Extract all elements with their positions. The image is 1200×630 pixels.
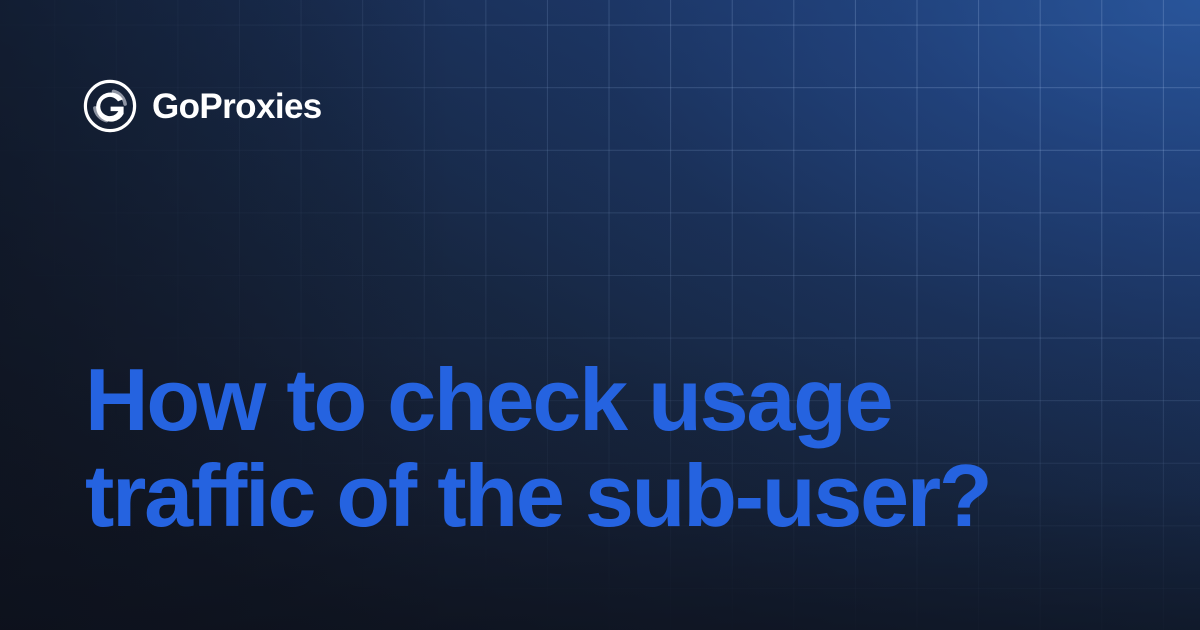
brand-name: GoProxies — [152, 89, 322, 124]
goproxies-logo-icon — [82, 78, 138, 134]
page-title: How to check usage traffic of the sub-us… — [85, 352, 1135, 544]
page-title-line-2: traffic of the sub-user? — [85, 448, 1135, 544]
page-title-line-1: How to check usage — [85, 352, 1135, 448]
brand-lockup: GoProxies — [82, 78, 322, 134]
social-share-card: GoProxies How to check usage traffic of … — [0, 0, 1200, 630]
